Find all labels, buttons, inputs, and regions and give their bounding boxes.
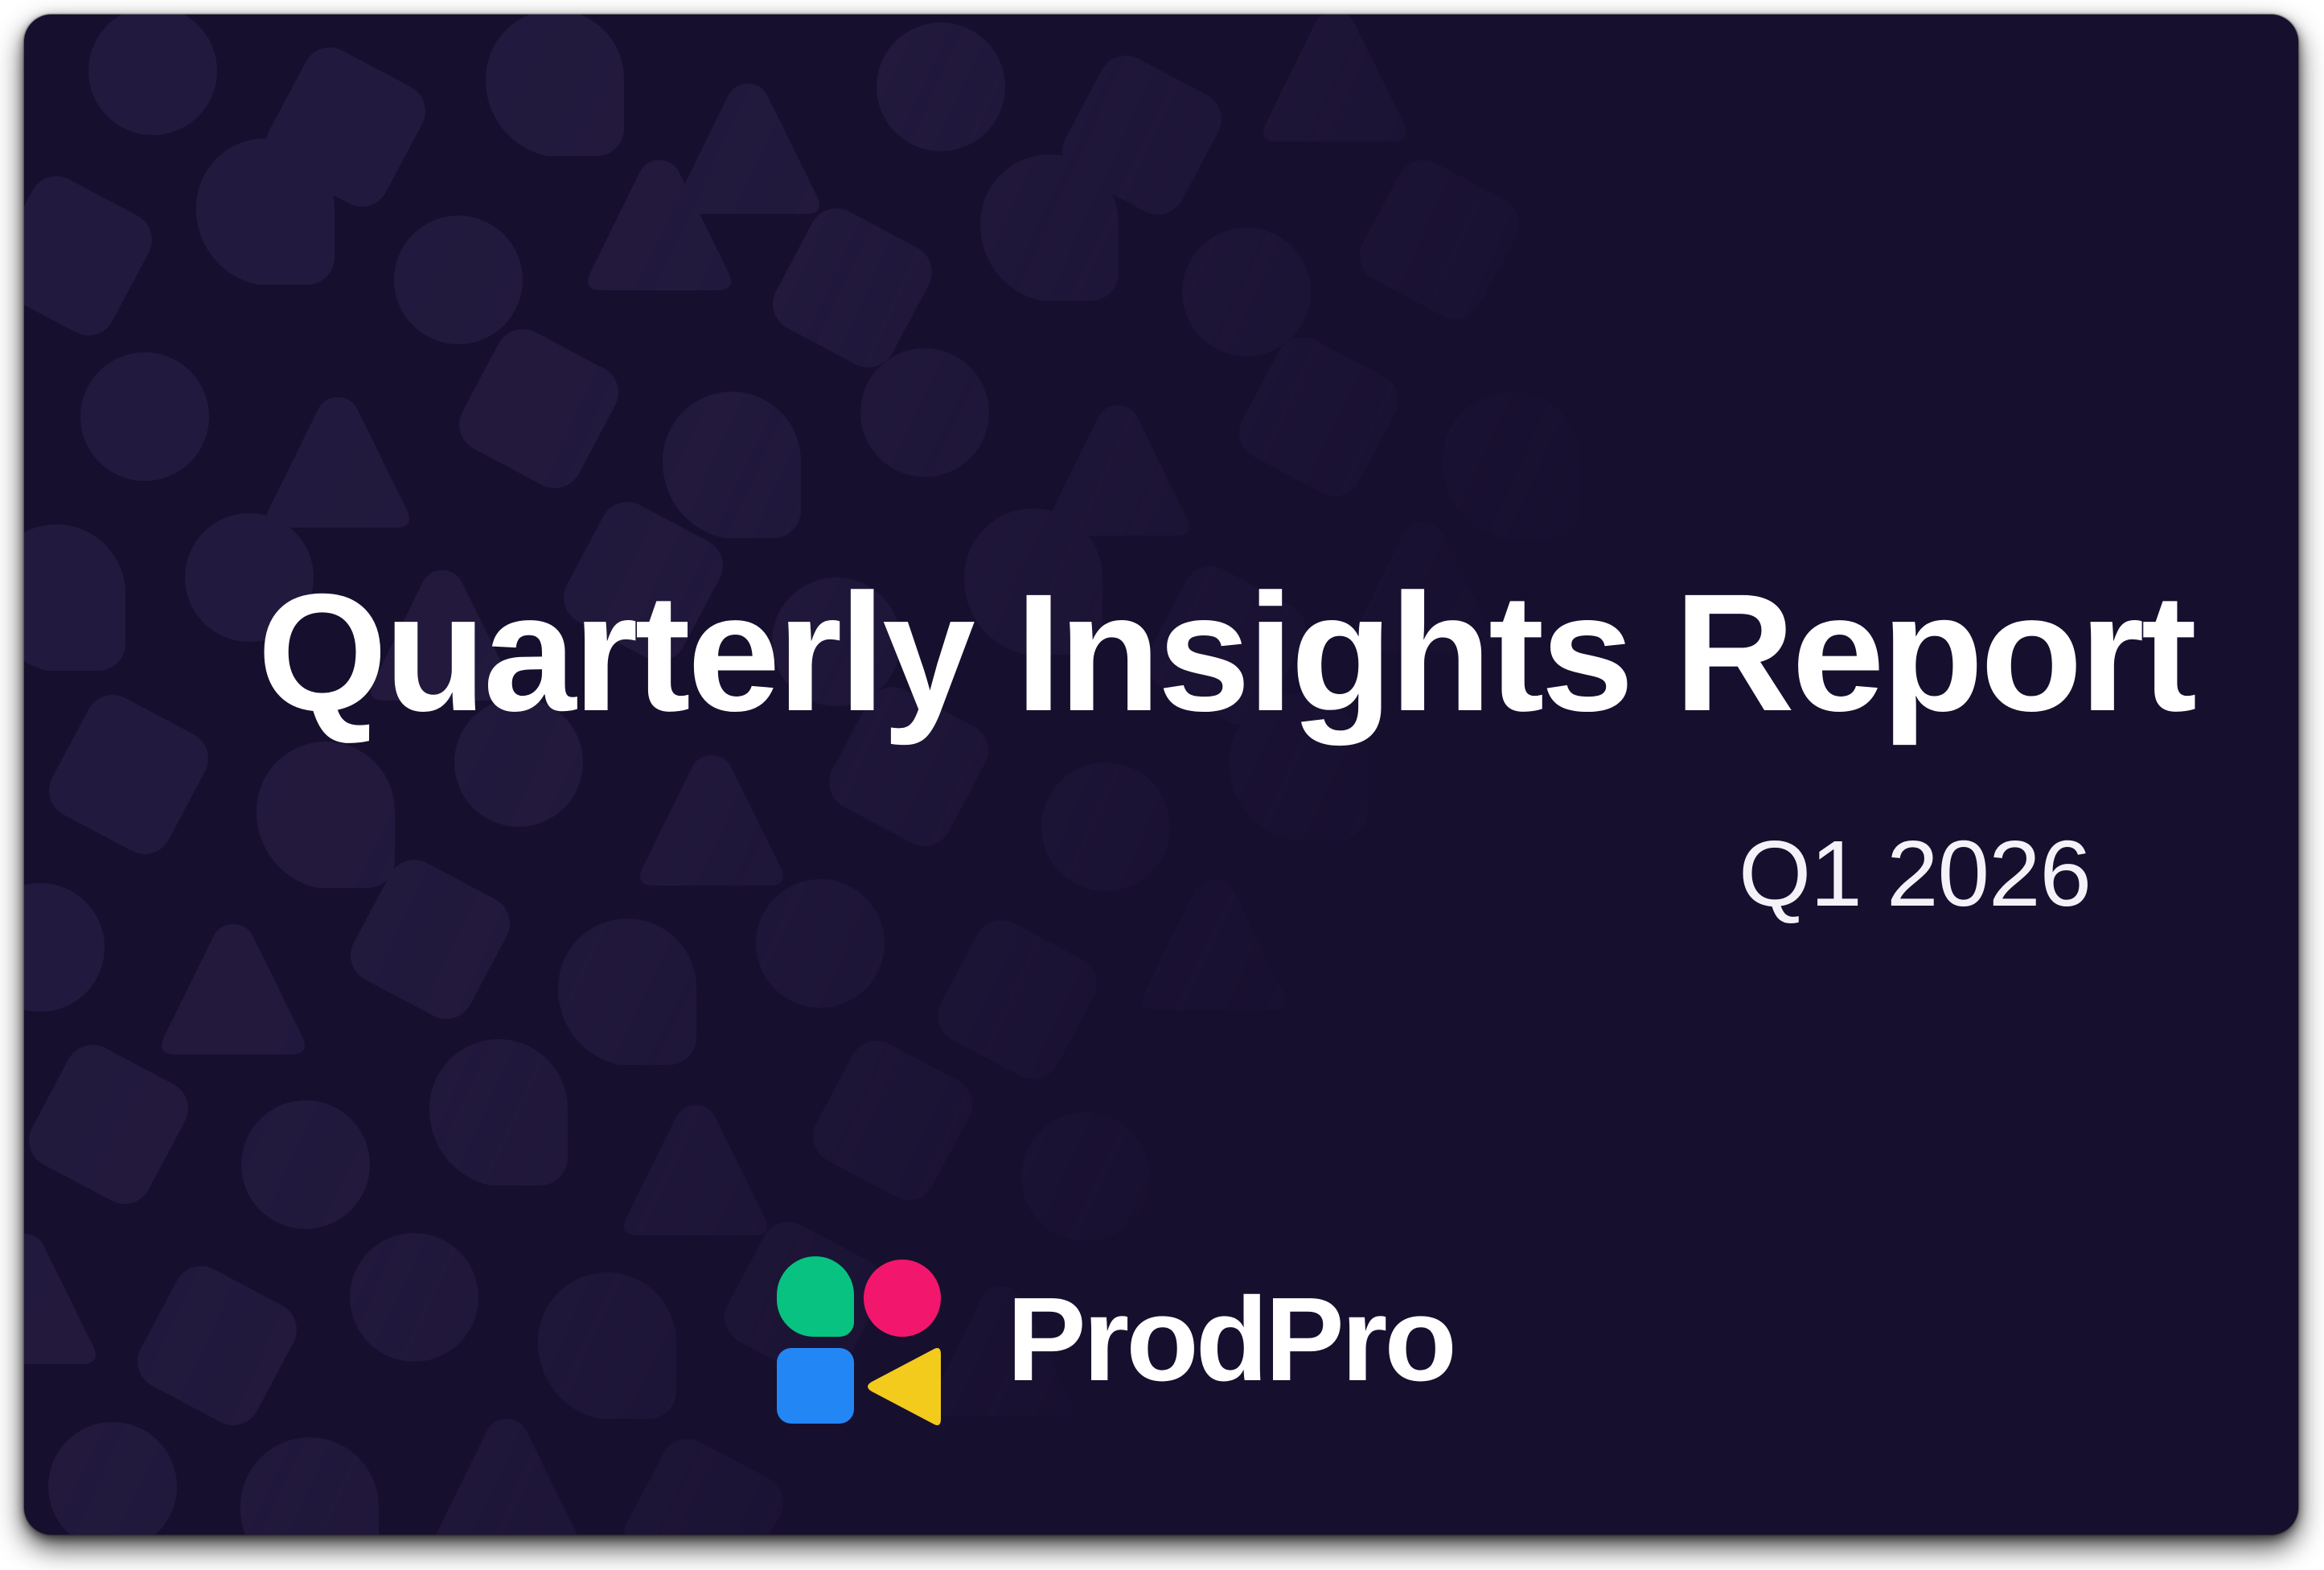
title-slide-card: Quarterly Insights Report Q1 2026 ProdPr… <box>24 14 2298 1535</box>
logo-circle-pink <box>864 1260 941 1337</box>
slide-text-block: Quarterly Insights Report Q1 2026 <box>257 569 2091 920</box>
brand-wordmark: ProdPro <box>1007 1280 1454 1399</box>
brand-lockup: ProdPro <box>774 1253 1454 1427</box>
logo-triangle-yellow <box>868 1348 941 1425</box>
page-title: Quarterly Insights Report <box>257 569 2091 737</box>
prodpro-logo-mark <box>774 1253 944 1427</box>
slide-subtitle: Q1 2026 <box>257 827 2091 920</box>
logo-rounded-square-blue <box>777 1348 854 1424</box>
logo-squircle-green <box>777 1256 854 1337</box>
slide-stage: Quarterly Insights Report Q1 2026 ProdPr… <box>0 0 2324 1570</box>
